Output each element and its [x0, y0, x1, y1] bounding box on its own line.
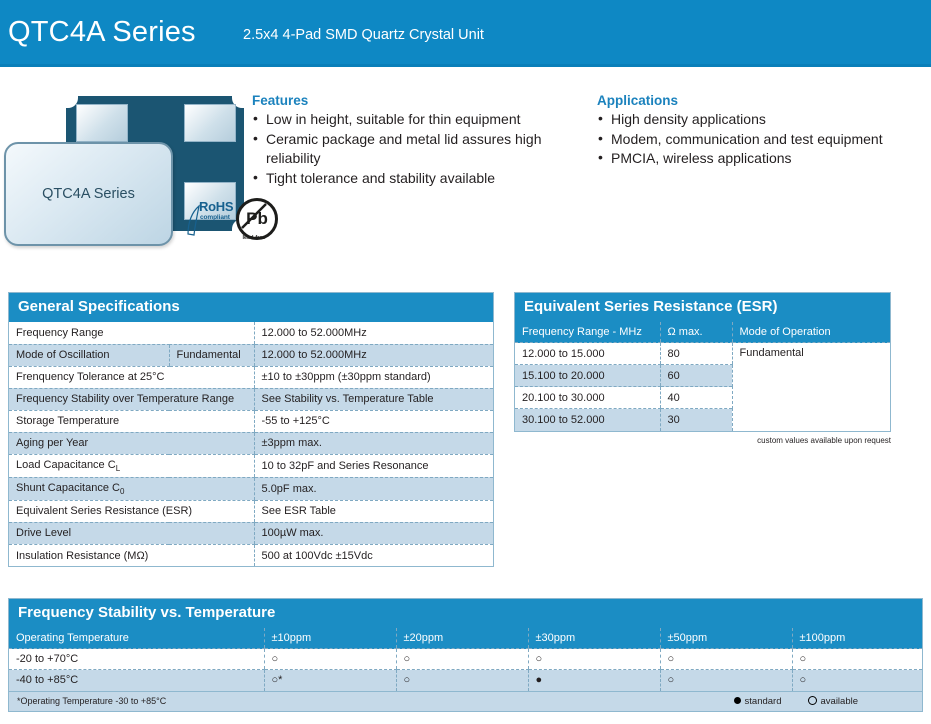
spec-value: 100µW max.	[254, 522, 493, 544]
stability-mark: ○*	[264, 670, 396, 691]
rohs-label: RoHS	[199, 199, 233, 214]
table-row: Aging per Year ±3ppm max.	[9, 432, 493, 454]
spec-parameter: Frequency Stability over Temperature Ran…	[9, 388, 254, 410]
table-row: Load Capacitance CL 10 to 32pF and Serie…	[9, 454, 493, 477]
solder-pad-2	[184, 104, 236, 142]
table-row: Storage Temperature -55 to +125°C	[9, 410, 493, 432]
stability-col-10ppm: ±10ppm	[264, 628, 396, 649]
spec-parameter: Aging per Year	[9, 432, 254, 454]
stability-footer: *Operating Temperature -30 to +85°C stan…	[9, 691, 922, 711]
spec-value: See ESR Table	[254, 500, 493, 522]
applications-section: Applications High density applications M…	[597, 93, 931, 169]
esr-col-ohm-max: Ω max.	[660, 322, 732, 343]
table-row: -40 to +85°C ○* ○ ● ○ ○	[9, 670, 922, 691]
table-row: -20 to +70°C ○ ○ ○ ○ ○	[9, 649, 922, 670]
product-lid-label: QTC4A Series	[42, 186, 135, 202]
table-row: Drive Level 100µW max.	[9, 522, 493, 544]
spec-sub-value: Fundamental	[169, 344, 254, 366]
esr-range: 15.100 to 20.000	[515, 365, 660, 387]
stability-mark: ○	[792, 649, 922, 670]
spec-value: ±3ppm max.	[254, 432, 493, 454]
spec-value: 12.000 to 52.000MHz	[254, 344, 493, 366]
spec-value: 500 at 100Vdc ±15Vdc	[254, 544, 493, 566]
spec-value: See Stability vs. Temperature Table	[254, 388, 493, 410]
header-banner-underline	[0, 64, 931, 67]
stability-mark: ○	[396, 649, 528, 670]
stability-mark: ○	[264, 649, 396, 670]
lead-free-sublabel: lead-free	[236, 235, 272, 241]
page-subtitle: 2.5x4 4-Pad SMD Quartz Crystal Unit	[243, 27, 484, 43]
table-row: 12.000 to 15.000 80 Fundamental	[515, 343, 890, 365]
pb-slash-icon	[236, 198, 272, 234]
list-item: PMCIA, wireless applications	[597, 149, 931, 169]
table-row: Shunt Capacitance C0 5.0pF max.	[9, 477, 493, 500]
certification-logos: RoHS compliant Pb lead-free	[186, 198, 276, 246]
features-list: Low in height, suitable for thin equipme…	[252, 110, 577, 188]
spec-parameter: Storage Temperature	[9, 410, 254, 432]
esr-range: 12.000 to 15.000	[515, 343, 660, 365]
stability-mark: ○	[528, 649, 660, 670]
table-row: Frequency Stability over Temperature Ran…	[9, 388, 493, 410]
legend-available: available	[808, 696, 859, 707]
stability-legend: standard available	[734, 696, 858, 707]
esr-range: 20.100 to 30.000	[515, 387, 660, 409]
open-circle-icon	[808, 696, 817, 705]
stability-temperature: -40 to +85°C	[9, 670, 264, 691]
esr-table: Equivalent Series Resistance (ESR) Frequ…	[514, 292, 891, 432]
applications-heading: Applications	[597, 93, 931, 108]
spec-parameter: Load Capacitance CL	[9, 454, 254, 477]
rohs-sublabel: compliant	[200, 214, 230, 221]
esr-col-frequency-range: Frequency Range - MHz	[515, 322, 660, 343]
spec-value: ±10 to ±30ppm (±30ppm standard)	[254, 366, 493, 388]
list-item: Low in height, suitable for thin equipme…	[252, 110, 577, 130]
table-row: Frenquency Tolerance at 25°C ±10 to ±30p…	[9, 366, 493, 388]
esr-col-mode: Mode of Operation	[732, 322, 890, 343]
stability-temperature: -20 to +70°C	[9, 649, 264, 670]
stability-col-50ppm: ±50ppm	[660, 628, 792, 649]
spec-value: 5.0pF max.	[254, 477, 493, 500]
esr-ohm: 30	[660, 409, 732, 431]
general-specifications-title: General Specifications	[9, 293, 493, 322]
list-item: Modem, communication and test equipment	[597, 130, 931, 150]
general-specifications-table: General Specifications Frequency Range 1…	[8, 292, 494, 567]
stability-footnote: *Operating Temperature -30 to +85°C	[17, 696, 166, 706]
filled-circle-icon	[734, 697, 741, 704]
spec-value: -55 to +125°C	[254, 410, 493, 432]
stability-col-30ppm: ±30ppm	[528, 628, 660, 649]
frequency-stability-table: Frequency Stability vs. Temperature Oper…	[8, 598, 923, 712]
spec-parameter: Frenquency Tolerance at 25°C	[9, 366, 254, 388]
esr-ohm: 60	[660, 365, 732, 387]
stability-mark: ○	[792, 670, 922, 691]
stability-grid: Operating Temperature ±10ppm ±20ppm ±30p…	[9, 628, 922, 691]
spec-parameter: Equivalent Series Resistance (ESR)	[9, 500, 254, 522]
esr-ohm: 40	[660, 387, 732, 409]
stability-mark: ○	[660, 649, 792, 670]
spec-parameter: Mode of Oscillation	[9, 344, 169, 366]
solder-pad-1	[76, 104, 128, 142]
stability-col-100ppm: ±100ppm	[792, 628, 922, 649]
crystal-lid: QTC4A Series	[4, 142, 173, 246]
stability-col-operating-temperature: Operating Temperature	[9, 628, 264, 649]
page-title: QTC4A Series	[8, 16, 196, 49]
esr-title: Equivalent Series Resistance (ESR)	[515, 293, 890, 322]
esr-grid: Frequency Range - MHz Ω max. Mode of Ope…	[515, 322, 890, 431]
applications-list: High density applications Modem, communi…	[597, 110, 931, 169]
esr-range: 30.100 to 52.000	[515, 409, 660, 431]
features-section: Features Low in height, suitable for thi…	[252, 93, 577, 188]
spec-parameter: Insulation Resistance (MΩ)	[9, 544, 254, 566]
legend-standard: standard	[734, 696, 782, 707]
table-header-row: Frequency Range - MHz Ω max. Mode of Ope…	[515, 322, 890, 343]
esr-mode: Fundamental	[732, 343, 890, 431]
spec-value: 10 to 32pF and Series Resonance	[254, 454, 493, 477]
table-row: Equivalent Series Resistance (ESR) See E…	[9, 500, 493, 522]
stability-mark: ○	[396, 670, 528, 691]
esr-ohm: 80	[660, 343, 732, 365]
list-item: High density applications	[597, 110, 931, 130]
spec-value: 12.000 to 52.000MHz	[254, 322, 493, 344]
spec-parameter: Frequency Range	[9, 322, 254, 344]
general-specifications-grid: Frequency Range 12.000 to 52.000MHz Mode…	[9, 322, 493, 566]
spec-parameter: Shunt Capacitance C0	[9, 477, 254, 500]
list-item: Tight tolerance and stability available	[252, 169, 577, 189]
features-heading: Features	[252, 93, 577, 108]
legend-available-label: available	[821, 696, 859, 707]
table-row: Frequency Range 12.000 to 52.000MHz	[9, 322, 493, 344]
stability-title: Frequency Stability vs. Temperature	[9, 599, 922, 628]
stability-col-20ppm: ±20ppm	[396, 628, 528, 649]
spec-parameter: Drive Level	[9, 522, 254, 544]
legend-standard-label: standard	[745, 696, 782, 707]
table-header-row: Operating Temperature ±10ppm ±20ppm ±30p…	[9, 628, 922, 649]
stability-mark: ●	[528, 670, 660, 691]
esr-note: custom values available upon request	[514, 436, 891, 445]
stability-mark: ○	[660, 670, 792, 691]
table-row: Mode of Oscillation Fundamental 12.000 t…	[9, 344, 493, 366]
table-row: Insulation Resistance (MΩ) 500 at 100Vdc…	[9, 544, 493, 566]
list-item: Ceramic package and metal lid assures hi…	[252, 130, 577, 169]
